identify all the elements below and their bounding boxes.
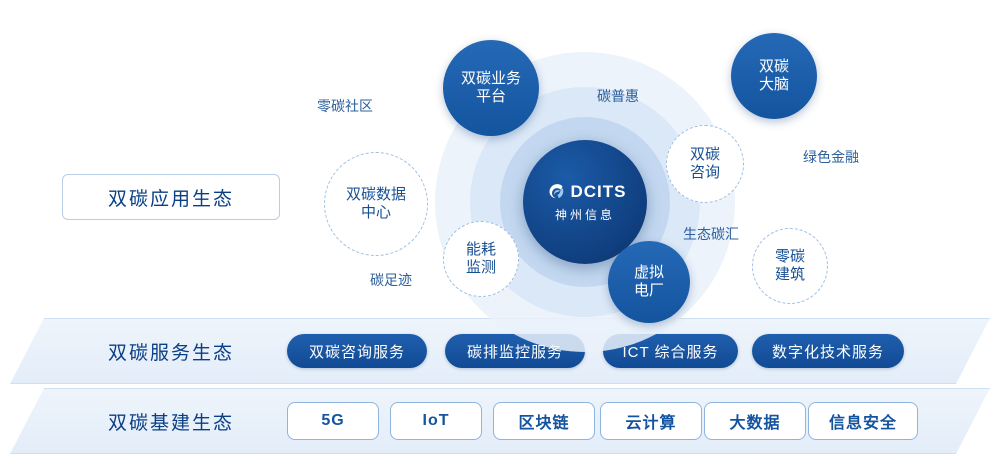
infra-pill-blockchain[interactable]: 区块链 [493, 402, 595, 440]
app-node-label: 双碳数据 中心 [346, 186, 406, 223]
app-node-label: 双碳 咨询 [690, 146, 720, 183]
dcits-swirl-icon [544, 181, 566, 203]
floating-label-eco-carbon-sink: 生态碳汇 [683, 224, 739, 244]
infra-pill-iot[interactable]: IoT [390, 402, 482, 440]
app-node-label: 双碳 大脑 [759, 58, 789, 95]
service-pill-consulting-service[interactable]: 双碳咨询服务 [287, 334, 427, 368]
infra-pill-label: 5G [321, 412, 344, 430]
app-node-zero-building[interactable]: 零碳 建筑 [752, 228, 828, 304]
app-node-label: 能耗 监测 [466, 241, 496, 278]
hub-brand-cn-text: 神州信息 [555, 206, 615, 223]
app-node-virtual-plant[interactable]: 虚拟 电厂 [608, 241, 690, 323]
infra-pill-label: 信息安全 [829, 409, 897, 433]
floating-label-carbon-footprint: 碳足迹 [370, 270, 412, 290]
service-pill-digital-tech-service[interactable]: 数字化技术服务 [752, 334, 904, 368]
service-pill-label: ICT 综合服务 [622, 341, 718, 362]
infra-pill-label: 大数据 [729, 409, 780, 433]
layer-label-service: 双碳服务生态 [62, 328, 280, 374]
infra-pill-bigdata[interactable]: 大数据 [704, 402, 806, 440]
layer-label-service-text: 双碳服务生态 [108, 338, 234, 365]
layer-label-application-text: 双碳应用生态 [108, 184, 234, 211]
service-pill-label: 数字化技术服务 [772, 341, 884, 362]
layer-label-application: 双碳应用生态 [62, 174, 280, 220]
infra-pill-cloud[interactable]: 云计算 [600, 402, 702, 440]
app-node-data-center[interactable]: 双碳数据 中心 [324, 152, 428, 256]
app-node-energy-monitor[interactable]: 能耗 监测 [443, 221, 519, 297]
app-node-label: 零碳 建筑 [775, 248, 805, 285]
infra-pill-label: 云计算 [625, 409, 676, 433]
app-node-brain[interactable]: 双碳 大脑 [731, 33, 817, 119]
app-node-label: 双碳业务 平台 [461, 70, 521, 107]
hub-brand-text: DCITS [571, 182, 627, 202]
diagram-canvas: 双碳应用生态 双碳服务生态 双碳咨询服务 碳排监控服务 ICT 综合服务 数字化… [0, 0, 1000, 476]
infra-pill-5g[interactable]: 5G [287, 402, 379, 440]
infra-pill-label: IoT [423, 412, 450, 430]
floating-label-green-finance: 绿色金融 [803, 147, 859, 167]
app-node-label: 虚拟 电厂 [634, 264, 664, 301]
app-node-consulting[interactable]: 双碳 咨询 [666, 125, 744, 203]
floating-label-zero-carbon-community: 零碳社区 [317, 96, 373, 116]
floating-label-carbon-inclusion: 碳普惠 [597, 86, 639, 106]
layer-label-infrastructure: 双碳基建生态 [62, 398, 280, 444]
layer-label-infrastructure-text: 双碳基建生态 [108, 408, 234, 435]
infra-pill-infosec[interactable]: 信息安全 [808, 402, 918, 440]
app-node-biz-platform[interactable]: 双碳业务 平台 [443, 40, 539, 136]
service-pill-label: 双碳咨询服务 [309, 341, 405, 362]
infra-pill-label: 区块链 [518, 409, 569, 433]
